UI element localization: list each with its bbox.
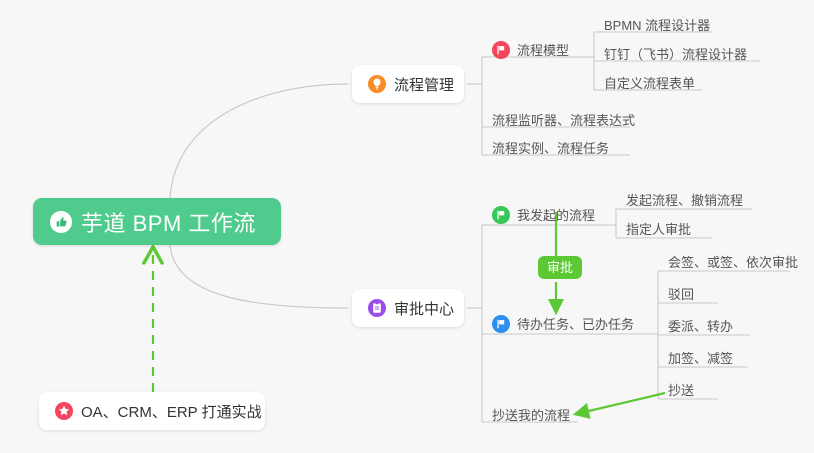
leaf-bpmn-designer[interactable]: BPMN 流程设计器 bbox=[604, 15, 710, 38]
thumbs-up-icon bbox=[50, 211, 72, 233]
leaf-process-listener-label: 流程监听器、流程表达式 bbox=[492, 110, 635, 129]
leaf-dingtalk-designer-label: 钉钉（飞书）流程设计器 bbox=[604, 44, 747, 63]
approval-badge: 审批 bbox=[538, 256, 582, 279]
leaf-todo-done-tasks-label: 待办任务、已办任务 bbox=[517, 314, 634, 333]
branch-process-management[interactable]: 流程管理 bbox=[352, 65, 464, 103]
leaf-add-remove-sign-label: 加签、减签 bbox=[668, 348, 733, 367]
leaf-delegate-transfer[interactable]: 委派、转办 bbox=[668, 316, 733, 339]
leaf-custom-form-label: 自定义流程表单 bbox=[604, 73, 695, 92]
leaf-my-started-processes[interactable]: 我发起的流程 bbox=[492, 205, 595, 228]
branch-process-management-label: 流程管理 bbox=[394, 74, 454, 95]
leaf-cc-label: 抄送 bbox=[668, 380, 694, 399]
leaf-reject-label: 驳回 bbox=[668, 284, 694, 303]
leaf-process-instance[interactable]: 流程实例、流程任务 bbox=[492, 138, 609, 161]
leaf-process-listener[interactable]: 流程监听器、流程表达式 bbox=[492, 110, 635, 133]
branch-approval-center-label: 审批中心 bbox=[394, 298, 454, 319]
flag-icon bbox=[492, 315, 510, 333]
leaf-custom-form[interactable]: 自定义流程表单 bbox=[604, 73, 695, 96]
flag-icon bbox=[492, 206, 510, 224]
leaf-reject[interactable]: 驳回 bbox=[668, 284, 694, 307]
main-branch-curves bbox=[170, 84, 348, 308]
flag-icon bbox=[492, 41, 510, 59]
leaf-process-instance-label: 流程实例、流程任务 bbox=[492, 138, 609, 157]
leaf-designated-approver-label: 指定人审批 bbox=[626, 219, 691, 238]
mindmap-canvas: 芋道 BPM 工作流 OA、CRM、ERP 打通实战 流程管理 bbox=[0, 0, 814, 453]
leaf-add-remove-sign[interactable]: 加签、减签 bbox=[668, 348, 733, 371]
leaf-start-cancel-process-label: 发起流程、撤销流程 bbox=[626, 190, 743, 209]
leaf-process-model-label: 流程模型 bbox=[517, 40, 569, 59]
bottom-note-label: OA、CRM、ERP 打通实战 bbox=[81, 401, 262, 422]
leaf-designated-approver[interactable]: 指定人审批 bbox=[626, 219, 691, 242]
star-icon bbox=[55, 402, 73, 420]
leaf-countersign[interactable]: 会签、或签、依次审批 bbox=[668, 252, 798, 275]
leaf-delegate-transfer-label: 委派、转办 bbox=[668, 316, 733, 335]
leaf-todo-done-tasks[interactable]: 待办任务、已办任务 bbox=[492, 314, 634, 337]
leaf-start-cancel-process[interactable]: 发起流程、撤销流程 bbox=[626, 190, 743, 213]
leaf-countersign-label: 会签、或签、依次审批 bbox=[668, 252, 798, 271]
branch-approval-center[interactable]: 审批中心 bbox=[352, 289, 464, 327]
leaf-dingtalk-designer[interactable]: 钉钉（飞书）流程设计器 bbox=[604, 44, 747, 67]
root-label: 芋道 BPM 工作流 bbox=[81, 206, 256, 238]
leaf-cc[interactable]: 抄送 bbox=[668, 380, 694, 403]
bottom-note-node[interactable]: OA、CRM、ERP 打通实战 bbox=[39, 392, 265, 430]
clipboard-icon bbox=[368, 299, 386, 317]
leaf-cc-to-me[interactable]: 抄送我的流程 bbox=[492, 405, 570, 428]
leaf-cc-to-me-label: 抄送我的流程 bbox=[492, 405, 570, 424]
root-node[interactable]: 芋道 BPM 工作流 bbox=[33, 198, 281, 245]
leaf-bpmn-designer-label: BPMN 流程设计器 bbox=[604, 15, 710, 34]
leaf-my-started-processes-label: 我发起的流程 bbox=[517, 205, 595, 224]
leaf-process-model[interactable]: 流程模型 bbox=[492, 40, 569, 63]
lightbulb-icon bbox=[368, 75, 386, 93]
